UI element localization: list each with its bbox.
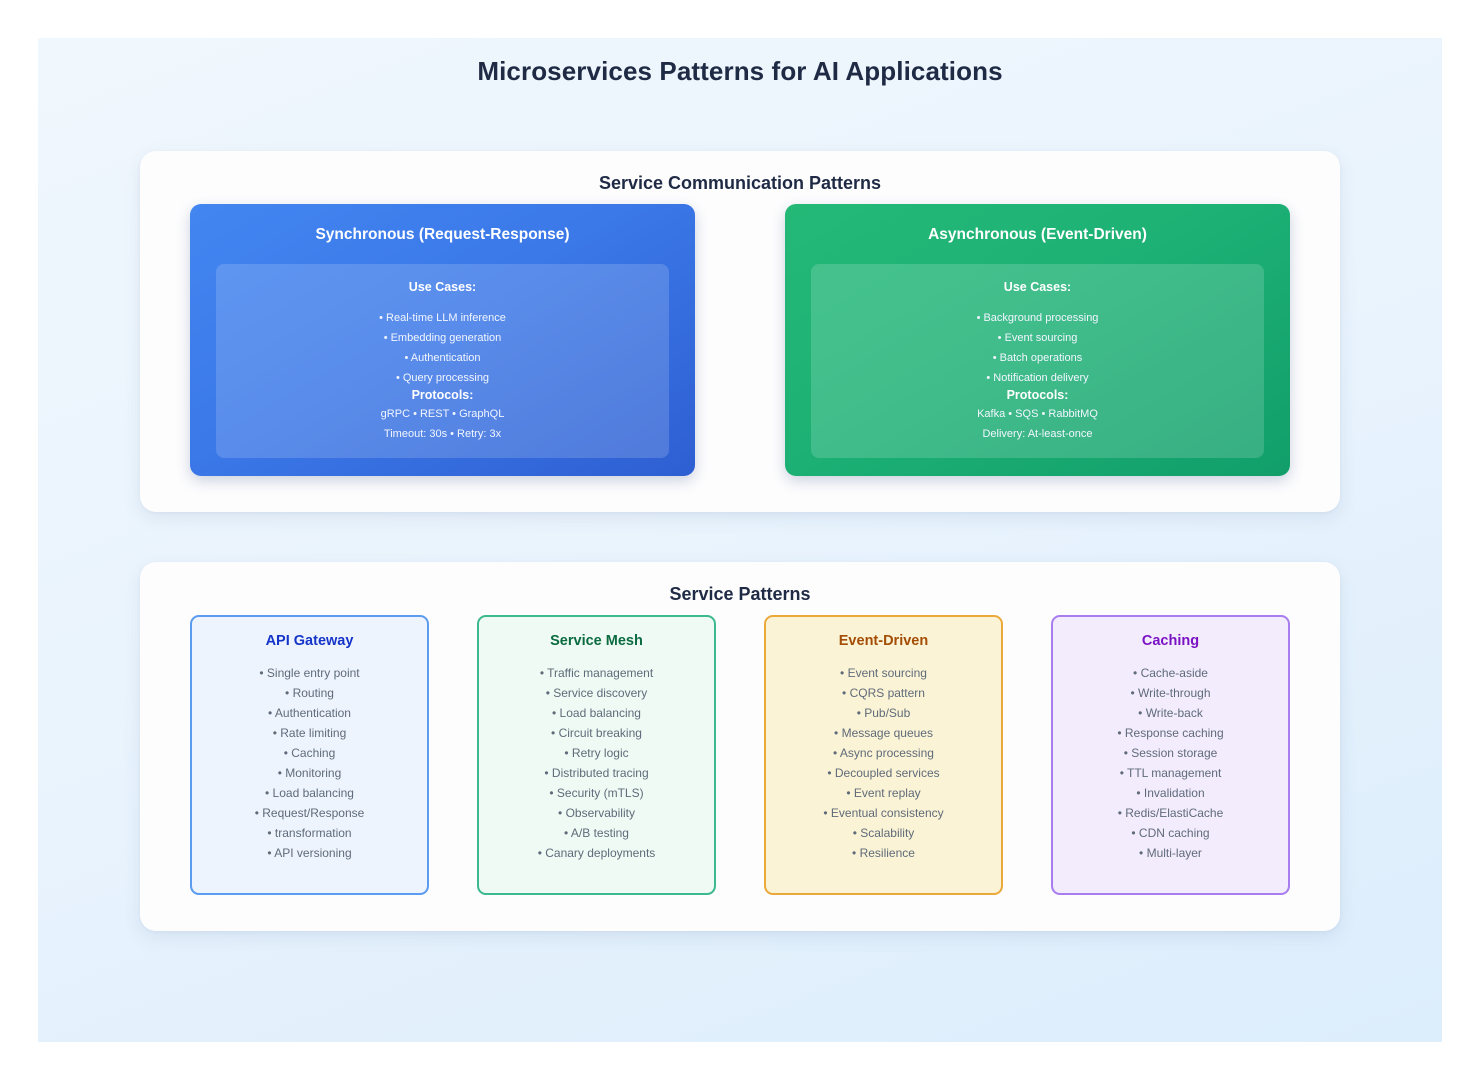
synchronous-card-title: Synchronous (Request-Response)	[216, 226, 669, 244]
service-patterns-section: Service Patterns API Gateway • Single en…	[140, 562, 1340, 931]
list-item: • Redis/ElastiCache	[1061, 803, 1280, 823]
pattern-card-title: API Gateway	[200, 633, 419, 649]
pattern-card-event-driven[interactable]: Event-Driven • Event sourcing • CQRS pat…	[764, 615, 1003, 895]
list-item: • Write-through	[1061, 683, 1280, 703]
synchronous-card[interactable]: Synchronous (Request-Response) Use Cases…	[190, 204, 695, 476]
list-item: • Async processing	[774, 743, 993, 763]
communication-card-row: Synchronous (Request-Response) Use Cases…	[188, 204, 1292, 476]
service-communication-section: Service Communication Patterns Synchrono…	[140, 151, 1340, 512]
list-item: • Eventual consistency	[774, 803, 993, 823]
list-item: • Embedding generation	[226, 328, 659, 348]
list-item: • Session storage	[1061, 743, 1280, 763]
list-item: • Routing	[200, 683, 419, 703]
list-item: Timeout: 30s • Retry: 3x	[226, 424, 659, 444]
asynchronous-protocols-heading: Protocols:	[821, 388, 1254, 402]
list-item: • Cache-aside	[1061, 663, 1280, 683]
synchronous-use-cases-heading: Use Cases:	[226, 280, 659, 294]
pattern-card-row: API Gateway • Single entry point • Routi…	[188, 615, 1292, 895]
list-item: • Load balancing	[487, 703, 706, 723]
list-item: • Query processing	[226, 368, 659, 388]
list-item: • Service discovery	[487, 683, 706, 703]
list-item: • Scalability	[774, 823, 993, 843]
list-item: • Retry logic	[487, 743, 706, 763]
pattern-card-api-gateway[interactable]: API Gateway • Single entry point • Routi…	[190, 615, 429, 895]
list-item: • Invalidation	[1061, 783, 1280, 803]
list-item: Kafka • SQS • RabbitMQ	[821, 404, 1254, 424]
pattern-card-title: Caching	[1061, 633, 1280, 649]
list-item: • Traffic management	[487, 663, 706, 683]
asynchronous-card-body: Use Cases: • Background processing • Eve…	[811, 264, 1264, 458]
list-item: • Observability	[487, 803, 706, 823]
list-item: • A/B testing	[487, 823, 706, 843]
list-item: • Event sourcing	[774, 663, 993, 683]
list-item: • Multi-layer	[1061, 843, 1280, 863]
list-item: • Real-time LLM inference	[226, 308, 659, 328]
list-item: • CDN caching	[1061, 823, 1280, 843]
list-item: gRPC • REST • GraphQL	[226, 404, 659, 424]
pattern-card-service-mesh[interactable]: Service Mesh • Traffic management • Serv…	[477, 615, 716, 895]
list-item: • TTL management	[1061, 763, 1280, 783]
list-item: • Authentication	[200, 703, 419, 723]
list-item: • Distributed tracing	[487, 763, 706, 783]
list-item: • Message queues	[774, 723, 993, 743]
pattern-card-caching[interactable]: Caching • Cache-aside • Write-through • …	[1051, 615, 1290, 895]
list-item: • transformation	[200, 823, 419, 843]
asynchronous-use-cases-heading: Use Cases:	[821, 280, 1254, 294]
service-communication-title: Service Communication Patterns	[188, 173, 1292, 194]
list-item: • Monitoring	[200, 763, 419, 783]
list-item: • Load balancing	[200, 783, 419, 803]
list-item: • Pub/Sub	[774, 703, 993, 723]
pattern-card-title: Service Mesh	[487, 633, 706, 649]
list-item: • Canary deployments	[487, 843, 706, 863]
list-item: • Resilience	[774, 843, 993, 863]
list-item: • Caching	[200, 743, 419, 763]
list-item: • Write-back	[1061, 703, 1280, 723]
list-item: • CQRS pattern	[774, 683, 993, 703]
list-item: • Background processing	[821, 308, 1254, 328]
list-item: • Response caching	[1061, 723, 1280, 743]
page-root: Microservices Patterns for AI Applicatio…	[38, 38, 1442, 1042]
page-title: Microservices Patterns for AI Applicatio…	[38, 56, 1442, 87]
list-item: • Notification delivery	[821, 368, 1254, 388]
synchronous-protocols-heading: Protocols:	[226, 388, 659, 402]
asynchronous-card[interactable]: Asynchronous (Event-Driven) Use Cases: •…	[785, 204, 1290, 476]
list-item: • Rate limiting	[200, 723, 419, 743]
list-item: • Security (mTLS)	[487, 783, 706, 803]
asynchronous-card-title: Asynchronous (Event-Driven)	[811, 226, 1264, 244]
list-item: • Circuit breaking	[487, 723, 706, 743]
list-item: • Authentication	[226, 348, 659, 368]
list-item: • Batch operations	[821, 348, 1254, 368]
list-item: • Single entry point	[200, 663, 419, 683]
list-item: • API versioning	[200, 843, 419, 863]
list-item: • Decoupled services	[774, 763, 993, 783]
synchronous-card-body: Use Cases: • Real-time LLM inference • E…	[216, 264, 669, 458]
pattern-card-title: Event-Driven	[774, 633, 993, 649]
list-item: • Request/Response	[200, 803, 419, 823]
list-item: Delivery: At-least-once	[821, 424, 1254, 444]
list-item: • Event sourcing	[821, 328, 1254, 348]
list-item: • Event replay	[774, 783, 993, 803]
service-patterns-title: Service Patterns	[188, 584, 1292, 605]
